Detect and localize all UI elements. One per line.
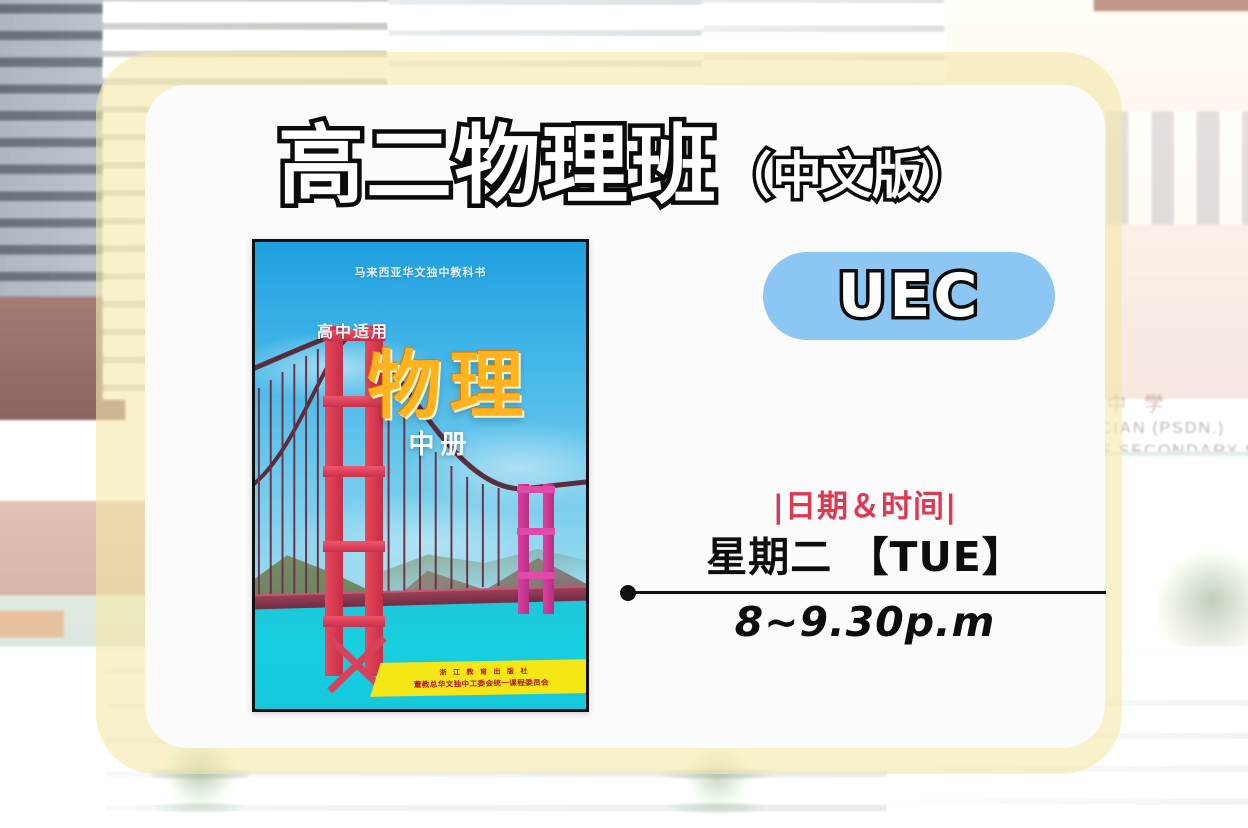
background-building-roof <box>1094 0 1248 11</box>
divider-line <box>630 591 1106 594</box>
uec-badge-label: UEC <box>838 265 981 327</box>
title-sub-text: （中文版） <box>722 146 972 206</box>
book-publisher-line2: 董教总华文独中工委会统一课程委员会 <box>414 677 549 690</box>
book-level-line: 高中适用 <box>317 318 389 342</box>
page-title: 高二物理班 （中文版） <box>145 102 1105 212</box>
schedule-heading: |日期＆时间| <box>625 489 1105 525</box>
book-bridge-far-tower <box>517 484 555 614</box>
uec-badge: UEC <box>763 252 1055 340</box>
schedule-divider <box>620 591 1106 595</box>
schedule-time: 8~9.30p.m <box>625 598 1105 646</box>
book-subject-title: 物理 <box>255 346 586 426</box>
book-volume-label: 中册 <box>255 424 586 461</box>
title-main-text: 高二物理班 <box>278 120 718 212</box>
book-publisher-banner: 浙 江 教 育 出 版 社 董教总华文独中工委会统一课程委员会 <box>370 659 589 697</box>
book-series-line: 马来西亚华文独中教科书 <box>255 264 586 280</box>
poster-canvas: 坤 成 中 学 CONFUCIAN (PSDN.) PRIVATE SECOND… <box>0 0 1248 828</box>
background-court-orange-area <box>0 611 64 638</box>
schedule-day: 星期二 【TUE】 <box>625 533 1105 581</box>
textbook-cover-image: 马来西亚华文独中教科书 高中适用 物理 中册 浙 江 教 育 出 版 社 董教总… <box>252 239 589 712</box>
